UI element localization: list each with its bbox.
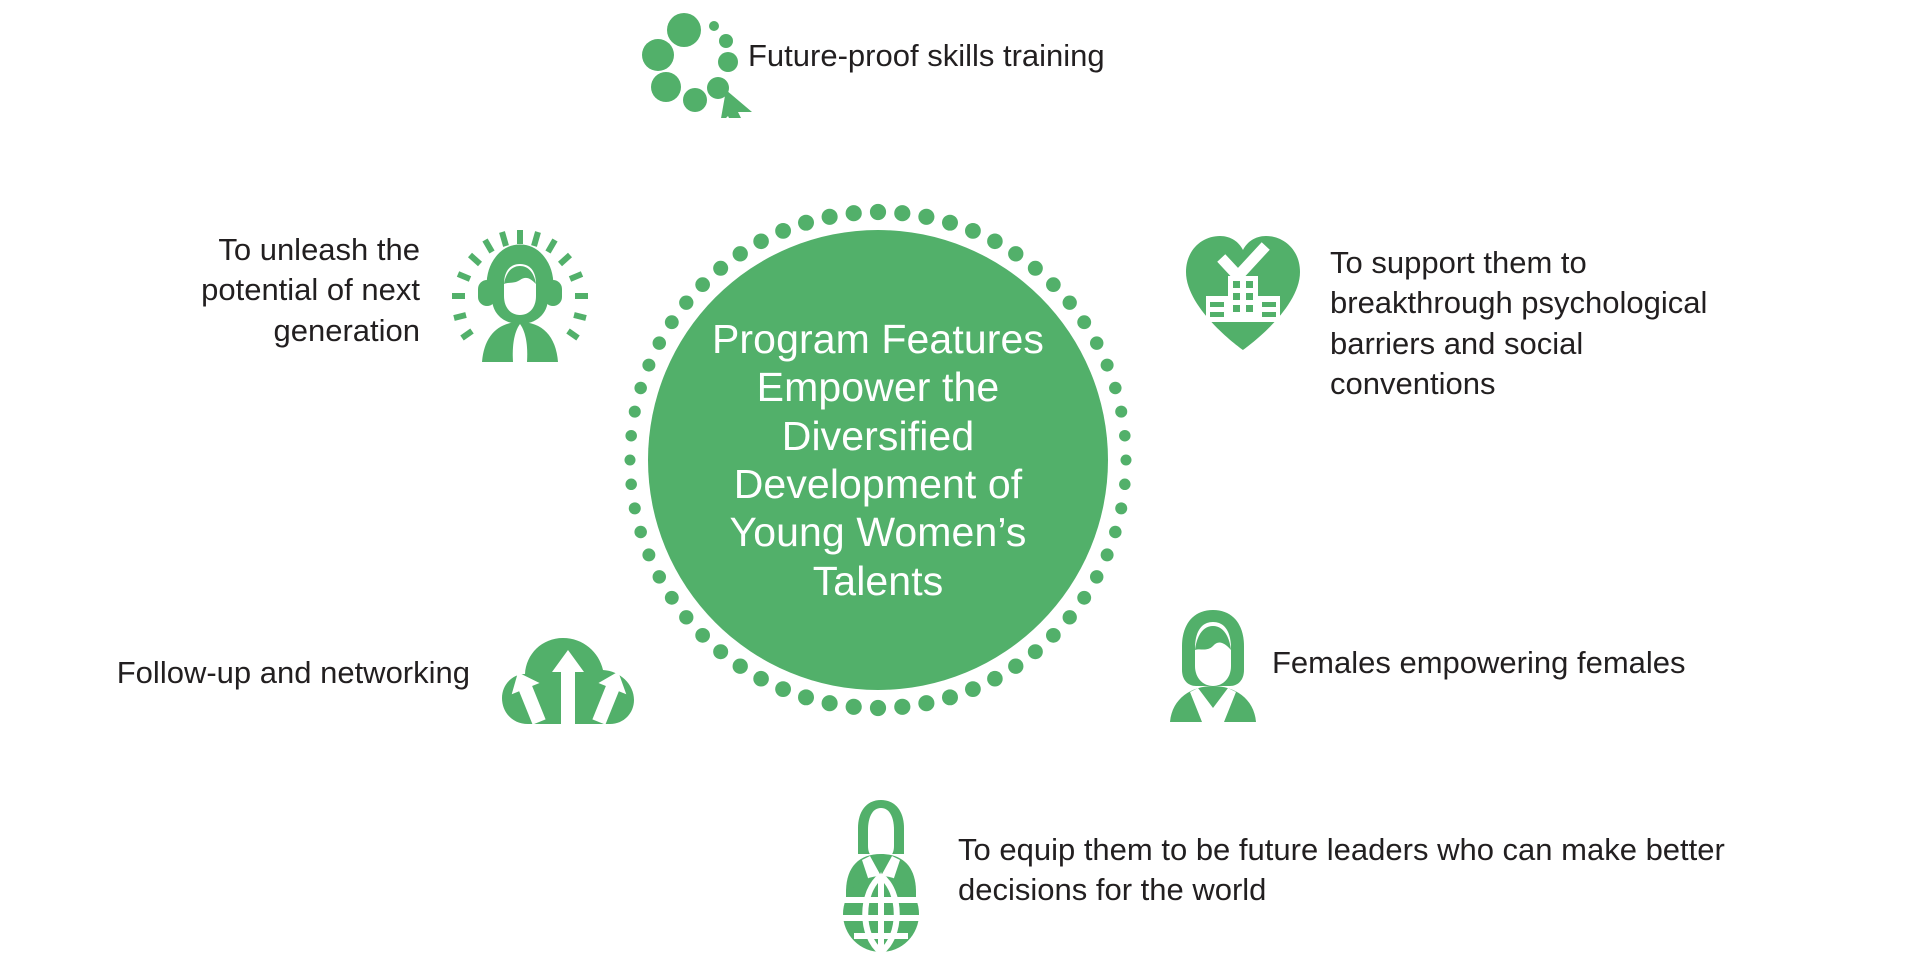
label-unleash-potential: To unleash the potential of next generat… [60,230,420,351]
heart-check-building-icon [1178,228,1308,356]
label-follow-up-networking: Follow-up and networking [10,653,470,693]
cloud-arrows-icon [498,628,638,732]
woman-globe-star-icon [826,796,936,956]
label-support-breakthrough: To support them to breakthrough psycholo… [1330,243,1850,404]
center-title: Program Features Empower the Diversified… [686,315,1070,605]
diagram-canvas: Program Features Empower the Diversified… [0,0,1920,968]
center-circle: Program Features Empower the Diversified… [648,230,1108,690]
label-females-empowering-females: Females empowering females [1272,643,1892,683]
headset-woman-icon [450,222,590,362]
dots-cursor-icon [640,8,760,118]
center-hub: Program Features Empower the Diversified… [612,194,1144,726]
woman-bust-icon [1158,604,1268,722]
label-future-proof-skills-training: Future-proof skills training [748,36,1268,76]
label-equip-future-leaders: To equip them to be future leaders who c… [958,830,1918,911]
